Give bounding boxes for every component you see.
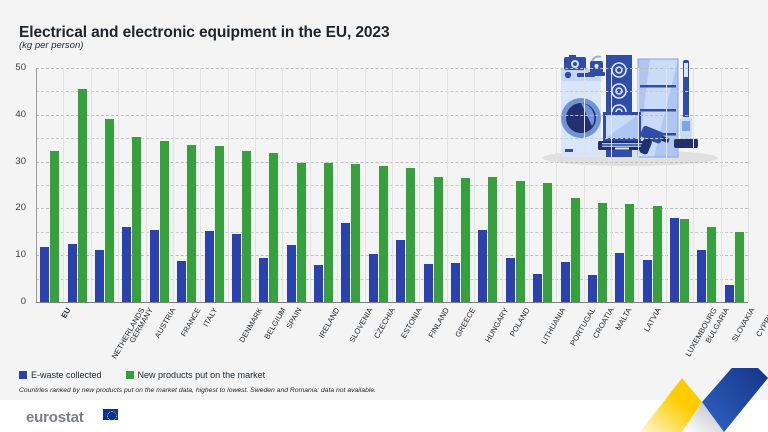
legend-label-ewaste: E-waste collected <box>31 370 102 380</box>
bar-group[interactable] <box>95 68 114 302</box>
bar-group[interactable] <box>506 68 525 302</box>
category-separator <box>529 68 530 302</box>
bar-new-products[interactable] <box>351 164 360 302</box>
x-label-czechia: CZECHIA <box>372 306 397 340</box>
chart-legend: E-waste collected New products put on th… <box>19 370 265 380</box>
bar-group[interactable] <box>533 68 552 302</box>
bar-ewaste-collected[interactable] <box>287 245 296 302</box>
bar-group[interactable] <box>177 68 196 302</box>
bar-new-products[interactable] <box>461 178 470 302</box>
legend-label-newproducts: New products put on the market <box>138 370 266 380</box>
bar-new-products[interactable] <box>434 177 443 302</box>
bar-group[interactable] <box>205 68 224 302</box>
bar-group[interactable] <box>150 68 169 302</box>
bar-group[interactable] <box>451 68 470 302</box>
bar-new-products[interactable] <box>680 219 689 302</box>
category-separator <box>447 68 448 302</box>
bar-group[interactable] <box>232 68 251 302</box>
bar-new-products[interactable] <box>598 203 607 302</box>
bar-new-products[interactable] <box>516 181 525 302</box>
category-separator <box>584 68 585 302</box>
bar-ewaste-collected[interactable] <box>177 261 186 302</box>
bar-new-products[interactable] <box>406 168 415 302</box>
x-label-france: FRANCE <box>179 306 203 338</box>
category-separator <box>255 68 256 302</box>
bar-group[interactable] <box>424 68 443 302</box>
bar-new-products[interactable] <box>297 163 306 302</box>
legend-swatch-ewaste <box>19 371 27 379</box>
x-label-denmark: DENMARK <box>237 306 264 344</box>
x-label-cyprus: CYPRUS <box>754 306 768 338</box>
bar-new-products[interactable] <box>735 232 744 302</box>
bar-new-products[interactable] <box>543 183 552 302</box>
corner-chevron-graphic <box>640 368 768 432</box>
bar-ewaste-collected[interactable] <box>341 223 350 302</box>
x-label-greece: GREECE <box>453 306 477 339</box>
x-label-italy: ITALY <box>201 306 219 328</box>
bar-new-products[interactable] <box>625 204 634 302</box>
x-label-slovakia: SLOVAKIA <box>730 306 757 343</box>
bar-group[interactable] <box>122 68 141 302</box>
bar-group[interactable] <box>341 68 360 302</box>
category-separator <box>310 68 311 302</box>
category-separator <box>63 68 64 302</box>
bar-ewaste-collected[interactable] <box>95 250 104 302</box>
category-separator <box>419 68 420 302</box>
bar-new-products[interactable] <box>78 89 87 302</box>
y-tick-20: 20 <box>0 202 26 213</box>
bar-ewaste-collected[interactable] <box>670 218 679 302</box>
category-separator <box>693 68 694 302</box>
x-label-finland: FINLAND <box>426 306 450 339</box>
y-tick-30: 30 <box>0 156 26 167</box>
bar-new-products[interactable] <box>215 146 224 302</box>
bar-group[interactable] <box>287 68 306 302</box>
bar-ewaste-collected[interactable] <box>396 240 405 302</box>
x-label-estonia: ESTONIA <box>399 306 424 340</box>
y-tick-40: 40 <box>0 109 26 120</box>
x-label-latvia: LATVIA <box>642 306 663 333</box>
bar-group[interactable] <box>697 68 716 302</box>
chart-subtitle: (kg per person) <box>19 40 83 51</box>
bar-group[interactable] <box>478 68 497 302</box>
category-separator <box>666 68 667 302</box>
bar-ewaste-collected[interactable] <box>314 265 323 302</box>
bar-group[interactable] <box>670 68 689 302</box>
bar-group[interactable] <box>259 68 278 302</box>
category-separator <box>146 68 147 302</box>
bar-ewaste-collected[interactable] <box>506 258 515 302</box>
bar-new-products[interactable] <box>105 119 114 302</box>
category-separator <box>228 68 229 302</box>
bar-ewaste-collected[interactable] <box>451 263 460 302</box>
category-separator <box>118 68 119 302</box>
category-separator <box>556 68 557 302</box>
bar-ewaste-collected[interactable] <box>588 275 597 302</box>
bar-ewaste-collected[interactable] <box>615 253 624 302</box>
x-label-hungary: HUNGARY <box>484 306 511 344</box>
bar-ewaste-collected[interactable] <box>533 274 542 302</box>
bar-group[interactable] <box>643 68 662 302</box>
category-separator <box>365 68 366 302</box>
category-separator <box>474 68 475 302</box>
bar-ewaste-collected[interactable] <box>697 250 706 302</box>
category-separator <box>392 68 393 302</box>
chart-footnote: Countries ranked by new products put on … <box>19 387 376 394</box>
category-separator <box>721 68 722 302</box>
bar-new-products[interactable] <box>488 177 497 302</box>
bar-ewaste-collected[interactable] <box>205 231 214 302</box>
x-axis-line <box>36 302 748 303</box>
category-separator <box>173 68 174 302</box>
x-label-eu: EU <box>59 306 72 320</box>
category-separator <box>337 68 338 302</box>
bar-group[interactable] <box>725 68 744 302</box>
bar-ewaste-collected[interactable] <box>40 247 49 302</box>
x-label-poland: POLAND <box>508 306 532 338</box>
bar-new-products[interactable] <box>571 198 580 302</box>
bar-new-products[interactable] <box>242 151 251 302</box>
bar-new-products[interactable] <box>132 137 141 302</box>
bar-ewaste-collected[interactable] <box>643 260 652 302</box>
category-separator <box>611 68 612 302</box>
bar-new-products[interactable] <box>187 145 196 302</box>
bar-group[interactable] <box>40 68 59 302</box>
category-separator <box>748 68 749 302</box>
bar-new-products[interactable] <box>269 153 278 302</box>
x-label-malta: MALTA <box>614 306 634 332</box>
bar-ewaste-collected[interactable] <box>232 234 241 302</box>
bar-ewaste-collected[interactable] <box>424 264 433 302</box>
bar-group[interactable] <box>588 68 607 302</box>
bar-new-products[interactable] <box>653 206 662 302</box>
legend-swatch-newproducts <box>126 371 134 379</box>
bar-ewaste-collected[interactable] <box>68 244 77 302</box>
bar-new-products[interactable] <box>160 141 169 302</box>
bar-new-products[interactable] <box>379 166 388 302</box>
category-separator <box>91 68 92 302</box>
bar-group[interactable] <box>314 68 333 302</box>
eu-flag-icon <box>103 409 118 420</box>
x-label-ireland: IRELAND <box>317 306 342 340</box>
chart-page: Electrical and electronic equipment in t… <box>0 0 768 432</box>
category-separator <box>638 68 639 302</box>
x-label-slovenia: SLOVENIA <box>347 306 374 344</box>
bar-ewaste-collected[interactable] <box>561 262 570 302</box>
bar-ewaste-collected[interactable] <box>122 227 131 302</box>
y-tick-0: 0 <box>0 296 26 307</box>
bar-group[interactable] <box>615 68 634 302</box>
bar-ewaste-collected[interactable] <box>369 254 378 302</box>
legend-item-newproducts: New products put on the market <box>126 370 266 380</box>
y-tick-10: 10 <box>0 249 26 260</box>
bar-new-products[interactable] <box>324 163 333 302</box>
category-separator <box>282 68 283 302</box>
x-label-lithuania: LITHUANIA <box>540 306 568 346</box>
bar-new-products[interactable] <box>707 227 716 302</box>
bar-ewaste-collected[interactable] <box>259 258 268 302</box>
plot-area <box>36 68 748 302</box>
bar-new-products[interactable] <box>50 151 59 302</box>
category-separator <box>502 68 503 302</box>
bar-ewaste-collected[interactable] <box>150 230 159 302</box>
bar-ewaste-collected[interactable] <box>478 230 487 302</box>
eurostat-logo: eurostat <box>26 409 84 426</box>
x-label-portugal: PORTUGAL <box>568 306 597 347</box>
y-tick-50: 50 <box>0 62 26 73</box>
bar-group[interactable] <box>68 68 87 302</box>
y-axis-line <box>36 68 37 303</box>
legend-item-ewaste: E-waste collected <box>19 370 102 380</box>
bar-group[interactable] <box>369 68 388 302</box>
bar-group[interactable] <box>396 68 415 302</box>
bar-group[interactable] <box>561 68 580 302</box>
x-label-austria: AUSTRIA <box>153 306 178 340</box>
bar-ewaste-collected[interactable] <box>725 285 734 302</box>
category-separator <box>200 68 201 302</box>
